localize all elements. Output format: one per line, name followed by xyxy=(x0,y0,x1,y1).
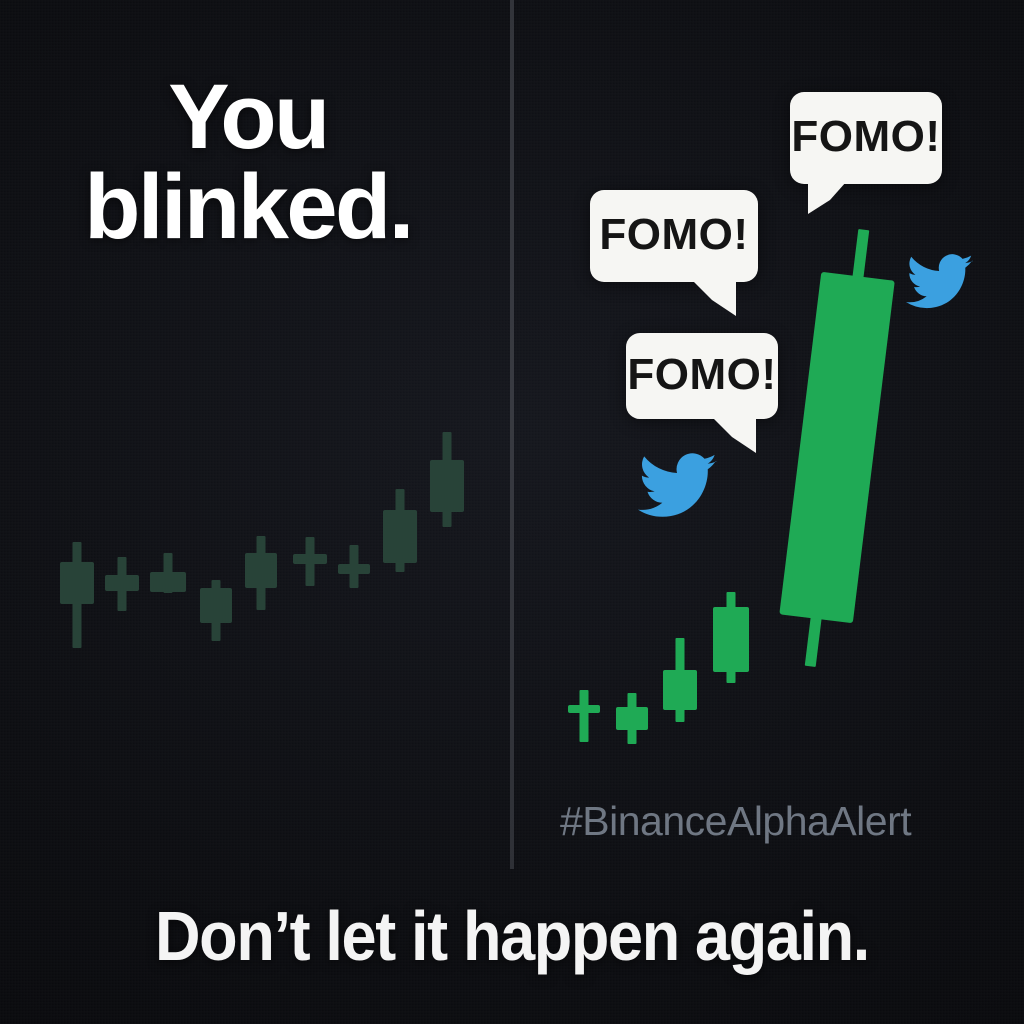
candle-body xyxy=(713,607,749,672)
fomo-bubble-3[interactable]: FOMO! xyxy=(626,333,778,419)
fomo-bubble-label: FOMO! xyxy=(791,115,940,159)
candle-body xyxy=(616,707,648,730)
candle-body xyxy=(60,562,94,604)
candle-body xyxy=(245,553,277,588)
candle-body xyxy=(293,554,327,564)
candle-dim-5 xyxy=(293,537,327,586)
panel-divider xyxy=(510,0,514,869)
candle-body xyxy=(663,670,697,710)
headline-text: You blinked. xyxy=(0,72,496,252)
candle-dim-8 xyxy=(430,432,464,527)
candle-body xyxy=(430,460,464,512)
candle-bright-1 xyxy=(616,693,648,744)
candle-dim-6 xyxy=(338,545,370,588)
candle-wick xyxy=(580,690,589,742)
hashtag-label: #BinanceAlphaAlert xyxy=(560,798,911,845)
candle-bright-0 xyxy=(568,690,600,742)
candle-body xyxy=(568,705,600,713)
candle-bright-pump-main xyxy=(773,225,900,671)
candle-dim-4 xyxy=(245,536,277,610)
candle-dim-3 xyxy=(200,580,232,641)
twitter-bird-icon xyxy=(906,248,974,316)
fomo-bubble-label: FOMO! xyxy=(627,353,776,397)
caption-text: Don’t let it happen again. xyxy=(51,896,973,976)
candle-body xyxy=(338,564,370,574)
fomo-bubble-2[interactable]: FOMO! xyxy=(590,190,758,282)
fomo-bubble-label: FOMO! xyxy=(599,213,748,257)
bubble-tail-icon xyxy=(712,417,756,453)
bubble-tail-icon xyxy=(692,280,736,316)
twitter-bird-icon xyxy=(638,446,718,526)
meme-canvas: You blinked. xyxy=(0,0,1024,1024)
candle-dim-2 xyxy=(150,553,186,593)
candle-body xyxy=(779,272,894,623)
candle-dim-0 xyxy=(60,542,94,648)
candle-dim-1 xyxy=(105,557,139,611)
candle-bright-2 xyxy=(663,638,697,722)
candle-body xyxy=(105,575,139,591)
candle-body xyxy=(150,572,186,592)
fomo-bubble-1[interactable]: FOMO! xyxy=(790,92,942,184)
candle-body xyxy=(200,588,232,623)
bubble-tail-icon xyxy=(808,182,846,214)
candle-body xyxy=(383,510,417,563)
candle-dim-7 xyxy=(383,489,417,572)
candle-bright-3 xyxy=(713,592,749,683)
